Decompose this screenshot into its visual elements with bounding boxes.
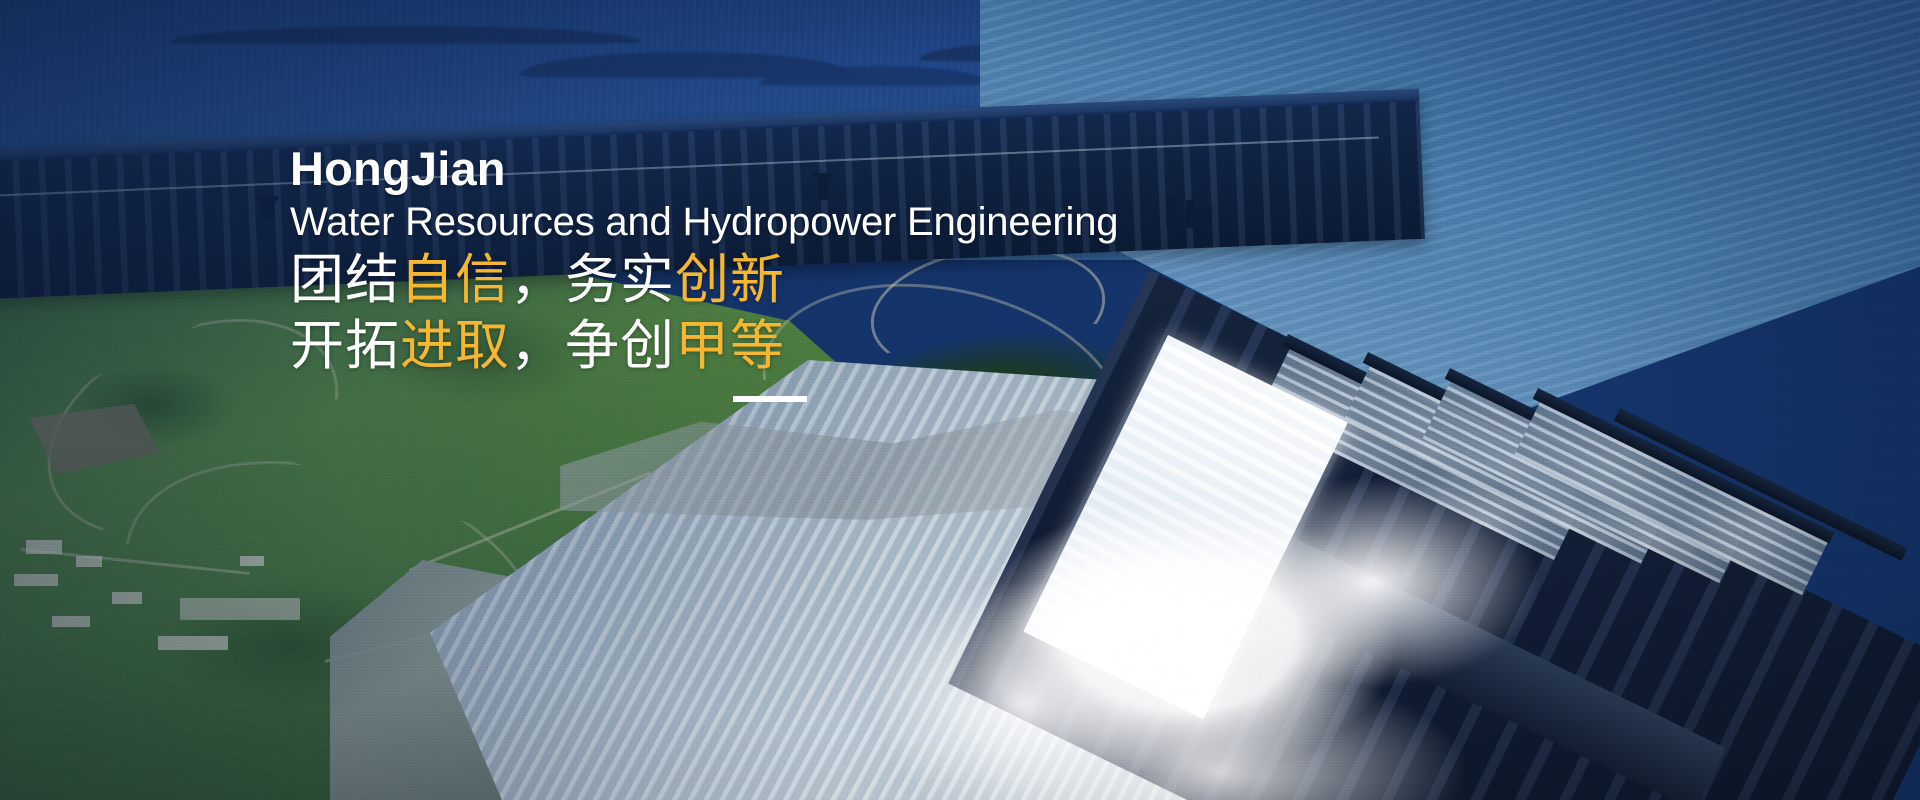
village-building [240, 556, 264, 566]
village-building [112, 592, 142, 604]
village-building [26, 540, 62, 554]
slogan-segment: 团结 [290, 250, 400, 310]
hero-copy-block: HongJian Water Resources and Hydropower … [290, 144, 1250, 410]
slogan-segment-highlight: 自信 [400, 250, 510, 310]
water-mist-plume [840, 430, 1600, 800]
slogan-segment: ，争创 [510, 316, 675, 376]
hero-banner: HongJian Water Resources and Hydropower … [0, 0, 1920, 800]
slogan-segment-highlight: 创新 [675, 250, 785, 310]
slogan-line-1: 团结自信，务实创新 [290, 248, 1250, 314]
village-building [52, 616, 90, 627]
crest-tower [259, 198, 275, 220]
village-building [158, 636, 228, 650]
slogan-segment: ，务实 [510, 250, 675, 310]
slogan-segment-highlight: 进取 [400, 316, 510, 376]
slogan-segment: 开拓 [290, 316, 400, 376]
village-building [14, 574, 58, 586]
slogan-segment-highlight: 甲等 [675, 316, 785, 376]
village-building [180, 598, 300, 620]
crest-tower [256, 196, 278, 201]
brand-title: HongJian [290, 144, 1250, 195]
village-building [76, 556, 102, 567]
brand-subtitle: Water Resources and Hydropower Engineeri… [290, 199, 1250, 246]
slogan-line-2: 开拓进取，争创甲等 [290, 314, 1250, 380]
accent-divider-rule [733, 396, 807, 402]
